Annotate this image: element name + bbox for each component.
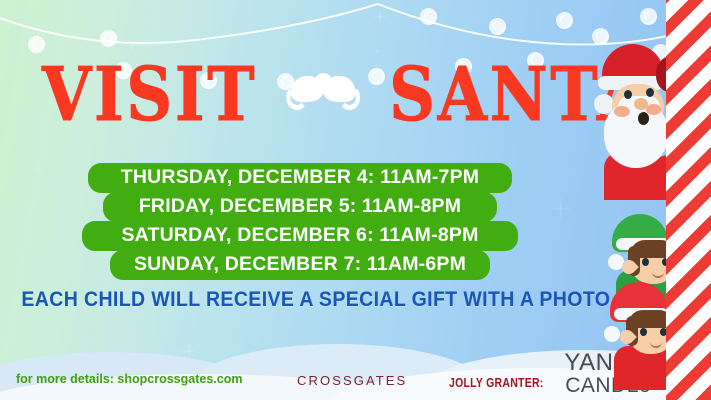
mustache-icon [290, 70, 355, 110]
details-url[interactable]: for more details: shopcrossgates.com [16, 372, 242, 386]
schedule-row: FRIDAY, DECEMBER 5: 11AM-8PM [103, 192, 497, 222]
headline-word-visit: VISIT [42, 58, 257, 132]
schedule-row: SUNDAY, DECEMBER 7: 11AM-6PM [110, 250, 490, 280]
visit-santa-banner: VISIT SANTA THURSDAY, DECEMBER 4: 11AM-7… [0, 0, 711, 400]
promo-subheading: EACH CHILD WILL RECEIVE A SPECIAL GIFT W… [21, 288, 588, 312]
candy-cane-panel [666, 0, 711, 400]
crossgates-logo: CROSSGATES [297, 373, 407, 388]
schedule-list: THURSDAY, DECEMBER 4: 11AM-7PM FRIDAY, D… [0, 163, 600, 280]
page-title: VISIT SANTA [42, 52, 558, 132]
schedule-row: SATURDAY, DECEMBER 6: 11AM-8PM [82, 221, 518, 251]
sponsor-label: JOLLY GRANTER: [449, 376, 544, 390]
schedule-row: THURSDAY, DECEMBER 4: 11AM-7PM [88, 163, 512, 193]
